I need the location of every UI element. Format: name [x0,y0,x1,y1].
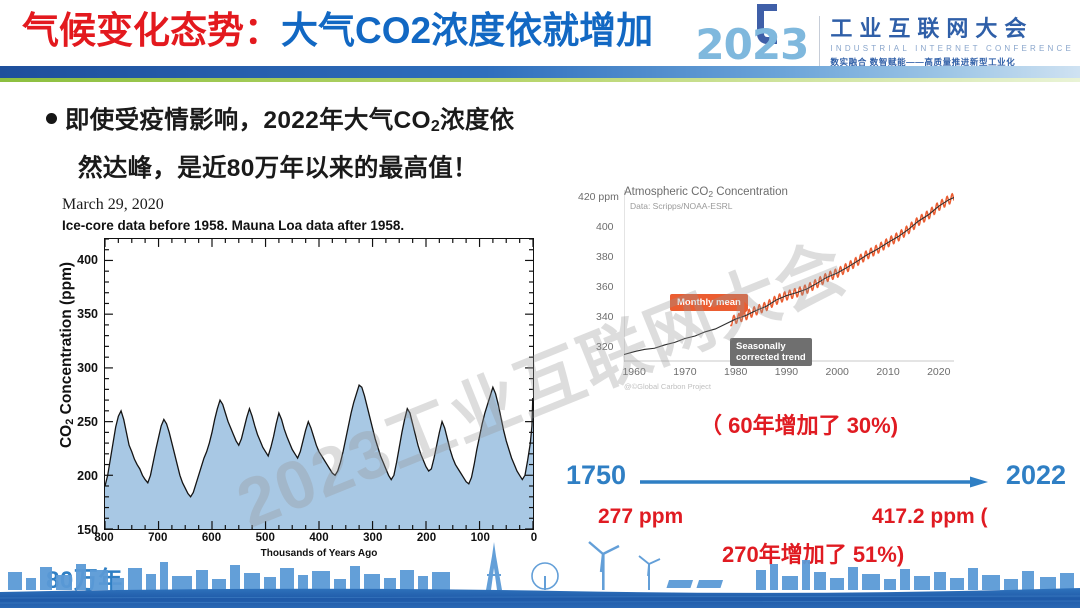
ice-core-x-tick-label: 0 [531,532,537,544]
page-title-red: 气候变化态势： [22,10,281,51]
ice-core-caption-80wan: 80万年 [46,560,123,595]
bullet-text-b: 浓度依 [440,107,514,134]
keeling-x-tick-label: 2020 [927,366,950,378]
ice-core-x-axis-label: Thousands of Years Ago [104,548,534,559]
annotation-ppm-2022: 417.2 ppm ( [872,505,988,529]
keeling-svg [624,190,954,362]
bullet-subscript: 2 [431,118,440,135]
keeling-legend-trend-line2: corrected trend [736,352,806,363]
page-title-blue: 大气CO2浓度依就增加 [281,10,653,51]
skyline-sea-lines [0,596,1080,603]
ice-core-y-tick-label: 200 [77,469,98,483]
timeline-start-year: 1750 [566,460,626,491]
ice-core-date-label: March 29, 2020 [62,196,164,214]
ice-core-y-axis-label: CO2 Concentration (ppm) [58,240,76,470]
ylabel-b: Concentration (ppm) [58,262,75,419]
ice-core-plot-area [104,238,534,530]
keeling-plot-area [624,190,954,362]
slide-canvas: 气候变化态势：大气CO2浓度依就增加 2023 中国·苏州 8月18-19日 工… [0,0,1080,608]
keeling-credit: @©Global Carbon Project [624,382,711,391]
logo-divider [819,16,820,72]
annotation-60-year-increase: （ 60年增加了 30%) [700,408,898,440]
ice-core-x-tick-label: 400 [309,532,328,544]
annotation-ppm-1750: 277 ppm [598,505,683,529]
keeling-legend-trend-line1: Seasonally [736,341,806,352]
keeling-x-tick-label: 2010 [876,366,899,378]
bullet-line-2-text: 然达峰，是近80万年以来的最高值！ [78,148,606,190]
keeling-y-tick-label: 420 ppm [578,191,619,203]
keeling-y-tick-label: 380 [596,251,614,263]
ice-core-y-tick-label: 400 [77,253,98,267]
keeling-legend-monthly: Monthly mean [670,294,748,311]
keeling-y-tick-label: 360 [596,281,614,293]
ice-core-x-tick-label: 500 [256,532,275,544]
timeline-arrow-icon [640,476,988,488]
page-title: 气候变化态势：大气CO2浓度依就增加 [22,6,653,56]
ice-core-x-tick-label: 200 [417,532,436,544]
ice-core-x-tick-label: 800 [94,532,113,544]
bullet-block: 即使受疫情影响，2022年大气CO2浓度依 然达峰，是近80万年以来的最高值！ [46,100,606,190]
ylabel-a: CO [58,425,75,448]
keeling-y-tick-label: 320 [596,341,614,353]
ylabel-sub: 2 [64,419,76,425]
bullet-dot-icon [46,113,57,124]
ice-core-x-tick-label: 100 [471,532,490,544]
ice-core-chart: March 29, 2020 Ice-core data before 1958… [36,196,548,562]
ice-core-tick-marks [105,239,533,529]
ice-core-y-tick-label: 250 [77,415,98,429]
ice-core-x-tick-label: 600 [202,532,221,544]
timeline-1750-2022: 1750 2022 [566,460,1066,500]
keeling-monthly-line [731,194,954,326]
logo-english-name: INDUSTRIAL INTERNET CONFERENCE [830,44,1074,53]
ice-core-subtitle: Ice-core data before 1958. Mauna Loa dat… [62,218,404,233]
keeling-x-tick-label: 1980 [724,366,747,378]
keeling-x-tick-label: 1970 [673,366,696,378]
logo-year-text: 2023 [695,20,808,69]
skyline-sea [0,588,1080,608]
keeling-x-tick-label: 1960 [622,366,645,378]
timeline-end-year: 2022 [1006,460,1066,491]
keeling-y-tick-label: 340 [596,311,614,323]
logo-chinese-name: 工业互联网大会 [830,16,1074,42]
slide-header: 气候变化态势：大气CO2浓度依就增加 2023 中国·苏州 8月18-19日 工… [0,0,1080,92]
logo-text-block: 工业互联网大会 INDUSTRIAL INTERNET CONFERENCE 数… [830,14,1074,68]
ice-core-x-tick-label: 700 [148,532,167,544]
keeling-curve-chart: Atmospheric CO2 Concentration Data: Scri… [578,182,968,400]
ice-core-x-tick-label: 300 [363,532,382,544]
keeling-trend-line [624,197,954,354]
keeling-legend-trend: Seasonally corrected trend [730,338,812,366]
bullet-text-a: 即使受疫情影响，2022年大气CO [65,107,431,134]
keeling-y-tick-label: 400 [596,221,614,233]
header-blue-rule [0,66,1080,78]
header-green-rule [0,78,1080,82]
bullet-line-1-text: 即使受疫情影响，2022年大气CO2浓度依 [65,100,514,148]
bullet-line-1: 即使受疫情影响，2022年大气CO2浓度依 [46,100,606,148]
ice-core-y-tick-label: 350 [77,307,98,321]
keeling-x-tick-label: 1990 [775,366,798,378]
ice-core-y-tick-label: 300 [77,361,98,375]
keeling-x-tick-label: 2000 [826,366,849,378]
annotation-270-year-increase: 270年增加了 51%) [722,537,904,569]
